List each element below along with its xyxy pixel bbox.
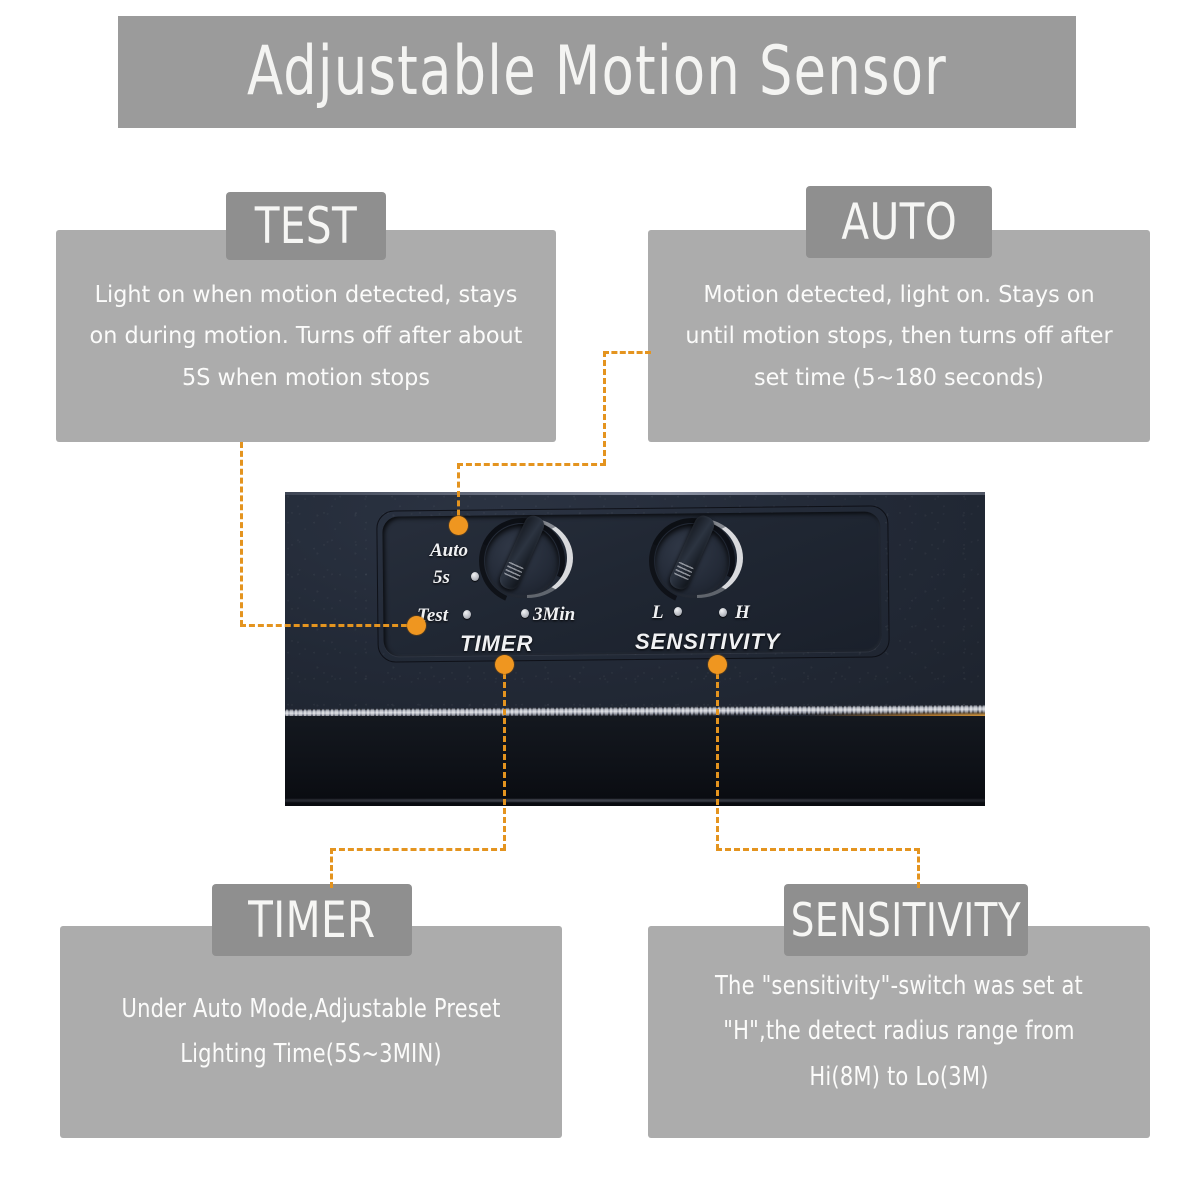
product-photo: Auto 5s Test 3Min TIMER L H SENSITIVITY (285, 492, 985, 806)
callout-auto: Motion detected, light on. Stays on unti… (648, 186, 1150, 442)
callout-test-tab-label: TEST (255, 201, 358, 251)
connector-sensitivity-endpoint-dot (708, 655, 727, 674)
connector-timer-segment-vertical-upper (503, 664, 506, 850)
sensitivity-rotary-switch[interactable] (645, 516, 741, 612)
indicator-dot-test (463, 610, 471, 619)
connector-timer-segment-vertical-lower (330, 848, 333, 888)
timer-rotary-switch[interactable] (475, 516, 571, 612)
connector-auto-endpoint-dot (449, 516, 468, 535)
callout-auto-tab: AUTO (806, 186, 992, 258)
callout-test: Light on when motion detected, stays on … (56, 192, 556, 442)
indicator-dot-5s (471, 572, 479, 581)
panel-label-5s: 5s (433, 567, 450, 589)
callout-auto-body: Motion detected, light on. Stays on unti… (648, 230, 1150, 442)
callout-timer-tab-label: TIMER (248, 895, 376, 945)
housing-bottom-edge (285, 799, 985, 802)
panel-label-timer: TIMER (460, 631, 533, 657)
callout-timer-body: Under Auto Mode,Adjustable Preset Lighti… (60, 926, 562, 1138)
callout-test-body: Light on when motion detected, stays on … (56, 230, 556, 442)
connector-timer-segment-horizontal (330, 848, 506, 851)
panel-label-high: H (735, 602, 750, 624)
connector-auto-segment-horizontal-top (603, 351, 651, 354)
callout-timer-tab: TIMER (212, 884, 412, 956)
connector-test-endpoint-dot (407, 616, 426, 635)
callout-auto-tab-label: AUTO (841, 197, 957, 247)
callout-auto-text: Motion detected, light on. Stays on unti… (661, 274, 1138, 397)
connector-auto-segment-horizontal-mid (457, 463, 606, 466)
connector-sensitivity-segment-vertical-lower (917, 848, 920, 888)
callout-test-tab: TEST (226, 192, 386, 260)
indicator-dot-3min (521, 609, 529, 618)
callout-test-text: Light on when motion detected, stays on … (69, 274, 544, 397)
panel-label-sensitivity: SENSITIVITY (635, 629, 780, 655)
callout-sensitivity-body: The "sensitivity"-switch was set at "H",… (648, 926, 1150, 1138)
connector-sensitivity-segment-horizontal (716, 848, 920, 851)
page-title: Adjustable Motion Sensor (247, 38, 947, 106)
housing-top-edge (285, 492, 985, 495)
callout-timer-text: Under Auto Mode,Adjustable Preset Lighti… (85, 987, 537, 1078)
infographic-canvas: Adjustable Motion Sensor Light on when m… (0, 0, 1200, 1200)
connector-auto-segment-vertical-upper (603, 351, 606, 465)
callout-sensitivity: The "sensitivity"-switch was set at "H",… (648, 884, 1150, 1138)
indicator-dot-low (674, 607, 682, 616)
panel-label-low: L (652, 602, 664, 624)
connector-timer-endpoint-dot (495, 655, 514, 674)
connector-test-segment-horizontal (240, 624, 416, 627)
callout-sensitivity-tab-label: SENSITIVITY (791, 897, 1021, 943)
title-banner: Adjustable Motion Sensor (118, 16, 1076, 128)
housing-lower-band (285, 716, 985, 806)
connector-sensitivity-segment-vertical-upper (716, 664, 719, 850)
callout-sensitivity-text: The "sensitivity"-switch was set at "H",… (673, 964, 1125, 1101)
panel-label-auto: Auto (430, 540, 468, 562)
callout-sensitivity-tab: SENSITIVITY (784, 884, 1028, 956)
callout-timer: Under Auto Mode,Adjustable Preset Lighti… (60, 884, 562, 1138)
connector-test-segment-vertical (240, 442, 243, 626)
indicator-dot-high (719, 608, 727, 617)
panel-label-3min: 3Min (533, 604, 575, 626)
